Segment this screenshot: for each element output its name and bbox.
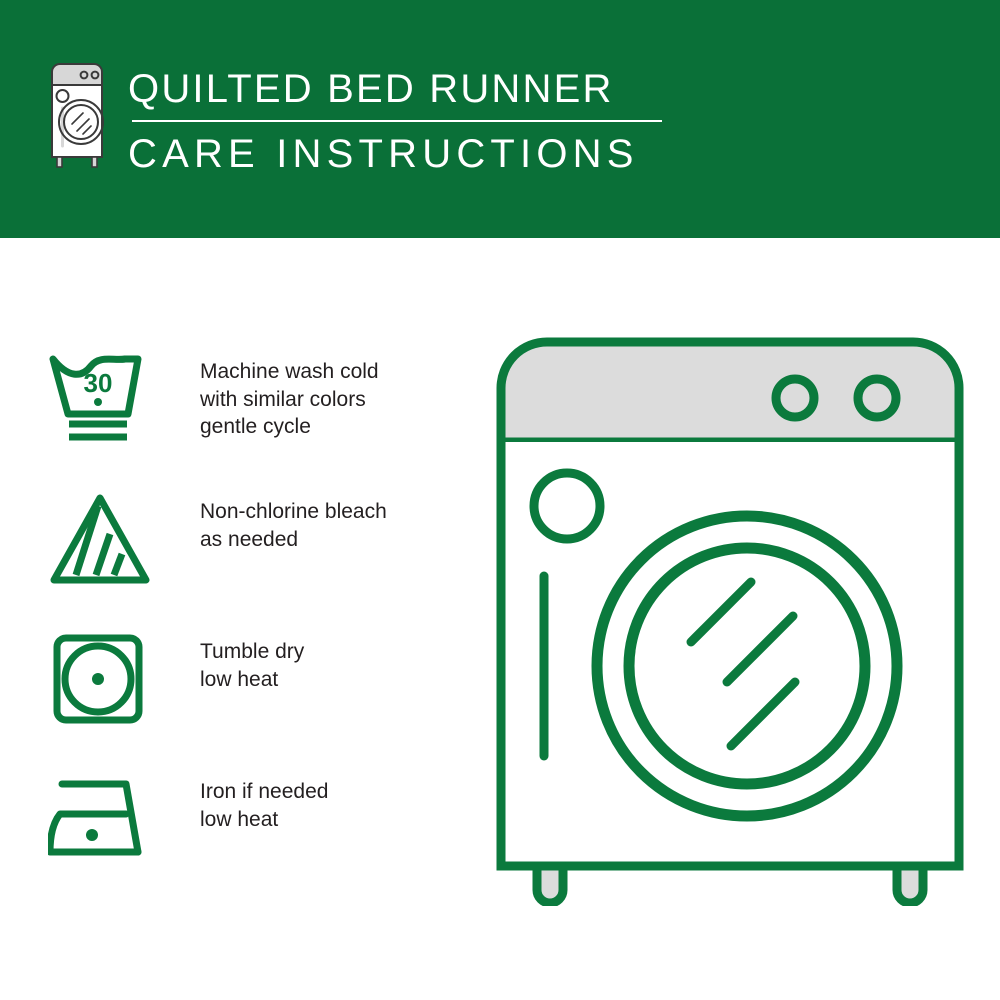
page-subtitle: CARE INSTRUCTIONS <box>128 131 662 177</box>
title-divider <box>132 120 662 122</box>
machine-wash-symbol: 30 <box>48 352 166 448</box>
wash-temperature-label: 30 <box>84 368 113 398</box>
leg-left <box>537 866 563 903</box>
header-title-group: QUILTED BED RUNNER CARE INSTRUCTIONS <box>128 62 662 177</box>
page-title: QUILTED BED RUNNER <box>128 66 662 112</box>
care-row-bleach: Non-chlorine bleach as needed <box>48 492 468 632</box>
care-row-machine-wash: 30 Machine wash cold with similar colors… <box>48 352 468 492</box>
triangle-stripes-icon <box>48 492 152 588</box>
care-row-iron: Iron if needed low heat <box>48 772 468 912</box>
iron-dot-icon <box>48 772 152 868</box>
dry-heat-dot-icon <box>92 673 104 685</box>
header-banner: QUILTED BED RUNNER CARE INSTRUCTIONS <box>0 0 1000 238</box>
header-content: QUILTED BED RUNNER CARE INSTRUCTIONS <box>44 62 662 177</box>
wash-dot-icon <box>94 398 102 406</box>
iron-symbol <box>48 772 166 868</box>
care-instruction-list: 30 Machine wash cold with similar colors… <box>48 352 468 912</box>
care-text-tumble-dry: Tumble dry low heat <box>200 632 304 693</box>
non-chlorine-bleach-symbol <box>48 492 166 588</box>
care-text-bleach: Non-chlorine bleach as needed <box>200 492 387 553</box>
care-row-tumble-dry: Tumble dry low heat <box>48 632 468 772</box>
machine-body <box>501 442 959 866</box>
care-text-iron: Iron if needed low heat <box>200 772 328 833</box>
leg-right <box>897 866 923 903</box>
care-text-machine-wash: Machine wash cold with similar colors ge… <box>200 352 379 441</box>
iron-heat-dot-icon <box>86 829 98 841</box>
tumble-dry-symbol <box>48 632 166 728</box>
wash-tub-30-icon: 30 <box>48 352 152 448</box>
washing-machine-icon <box>44 62 110 170</box>
washing-machine-illustration <box>495 336 965 906</box>
square-circle-dot-icon <box>48 632 152 728</box>
